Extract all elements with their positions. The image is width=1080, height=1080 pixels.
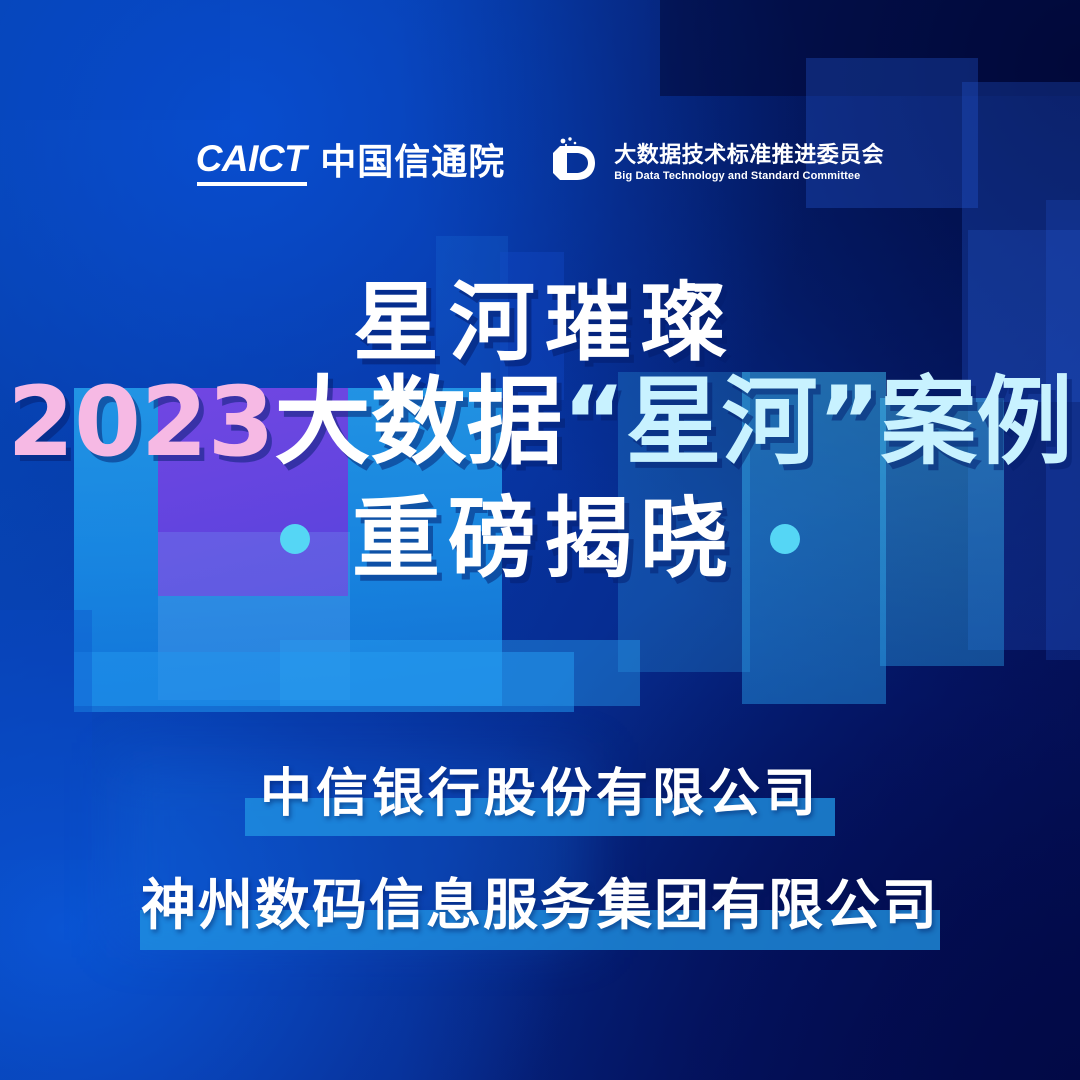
company-label-2: 神州数码信息服务集团有限公司 <box>141 873 939 937</box>
bdtsc-chinese-name: 大数据技术标准推进委员会 <box>614 145 884 167</box>
company-list: 中信银行股份有限公司 神州数码信息服务集团有限公司 <box>0 768 1080 933</box>
decorative-block-lower-band-2 <box>280 640 640 706</box>
caict-logo: CAICT 中国信通院 <box>196 140 506 186</box>
title-line-3: 重磅揭晓 <box>0 495 1080 583</box>
decorative-block-top-left <box>0 0 230 120</box>
company-name-1: 中信银行股份有限公司 <box>0 768 1080 820</box>
bdtsc-logo: 大数据技术标准推进委员会 Big Data Technology and Sta… <box>551 136 884 190</box>
company-label-1: 中信银行股份有限公司 <box>260 764 820 824</box>
title-reveal-text: 重磅揭晓 <box>344 495 736 583</box>
caict-wordmark: CAICT <box>196 140 307 186</box>
bdtsc-english-name: Big Data Technology and Standard Committ… <box>614 171 884 182</box>
poster-canvas: CAICT 中国信通院 大数据技术标准推进委员会 Big Data Techno… <box>0 0 1080 1080</box>
title-group: 星河璀璨 2023大数据“星河”案例 重磅揭晓 <box>0 280 1080 583</box>
bdtsc-text-block: 大数据技术标准推进委员会 Big Data Technology and Sta… <box>614 145 884 182</box>
dot-left-icon <box>280 524 310 554</box>
company-name-2: 神州数码信息服务集团有限公司 <box>0 878 1080 933</box>
title-year: 2023 <box>7 366 274 478</box>
caict-chinese-name: 中国信通院 <box>320 145 505 181</box>
dot-right-icon <box>770 524 800 554</box>
title-line-2: 2023大数据“星河”案例 <box>0 372 1080 473</box>
title-line-1: 星河璀璨 <box>0 280 1080 366</box>
bdtsc-d-icon <box>551 136 601 190</box>
title-bigdata: 大数据 <box>275 366 563 478</box>
logo-header: CAICT 中国信通院 大数据技术标准推进委员会 Big Data Techno… <box>0 136 1080 190</box>
title-galaxy-case: “星河”案例 <box>563 366 1073 478</box>
